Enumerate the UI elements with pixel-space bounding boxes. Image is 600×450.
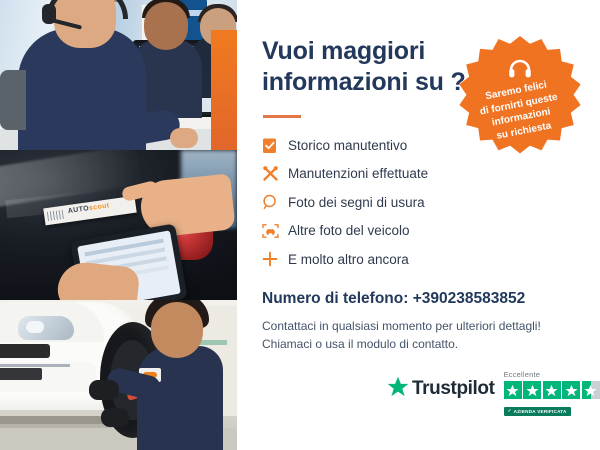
star-box <box>562 381 580 399</box>
list-item: E molto altro ancora <box>262 245 512 274</box>
list-item-label: Altre foto del veicolo <box>288 223 410 238</box>
plus-icon <box>262 251 288 267</box>
star-box-half <box>582 381 600 399</box>
list-item-label: Foto dei segni di usura <box>288 195 425 210</box>
title-line-2: informazioni su ? <box>262 67 487 98</box>
verified-badge: ✓ AZIENDA VERIFICATA <box>504 407 571 416</box>
mechanic <box>137 346 223 450</box>
contact-subtext: Contattaci in qualsiasi momento per ulte… <box>262 317 582 353</box>
contact-subtext-line-1: Contattaci in qualsiasi momento per ulte… <box>262 317 582 335</box>
verified-label: AZIENDA VERIFICATA <box>514 409 567 414</box>
star-rating <box>504 381 600 399</box>
contact-subtext-line-2: Chiamaci o usa il modulo di contatto. <box>262 335 582 353</box>
list-item-label: Storico manutentivo <box>288 138 407 153</box>
list-item-label: E molto altro ancora <box>288 252 409 267</box>
list-item-label: Manutenzioni effettuate <box>288 166 428 181</box>
trustpilot-widget[interactable]: Trustpilot Eccellente <box>387 370 600 417</box>
phone-number[interactable]: Numero di telefono: +390238583852 <box>262 290 525 308</box>
star-box <box>543 381 561 399</box>
mechanic-wheel-photo <box>0 300 237 450</box>
magnifier-icon <box>262 194 288 210</box>
list-item: Manutenzioni effettuate <box>262 160 512 189</box>
rating-label: Eccellente <box>504 370 600 379</box>
trustpilot-logo: Trustpilot <box>387 376 495 402</box>
car-scan-icon <box>262 223 288 239</box>
trustpilot-rating: Eccellente <box>504 370 600 417</box>
list-item: Storico manutentivo <box>262 131 512 160</box>
star-box <box>504 381 522 399</box>
call-center-photo <box>0 0 237 150</box>
trustpilot-wordmark: Trustpilot <box>412 378 495 400</box>
office-chair <box>0 70 26 130</box>
verified-check-icon: ✓ <box>508 408 512 414</box>
feature-list: Storico manutentivo Manutenzioni effettu… <box>262 131 512 274</box>
clipboard-check-icon <box>262 137 288 154</box>
orange-partition <box>211 30 237 150</box>
promo-card: AUTOscout <box>0 0 600 450</box>
trustpilot-star-icon <box>387 376 409 402</box>
list-item: Foto dei segni di usura <box>262 188 512 217</box>
foreground-agent <box>18 28 146 150</box>
page-title: Vuoi maggiori informazioni su ? <box>262 36 487 98</box>
tablet-inspection-photo: AUTOscout <box>0 150 237 300</box>
headset-icon <box>507 57 533 84</box>
star-box <box>523 381 541 399</box>
list-item: Altre foto del veicolo <box>262 217 512 246</box>
headset-band <box>46 0 128 19</box>
info-panel: Vuoi maggiori informazioni su ? Saremo f… <box>237 0 600 450</box>
tools-cross-icon <box>262 165 288 182</box>
title-line-1: Vuoi maggiori <box>262 36 487 67</box>
title-divider <box>263 115 301 118</box>
photo-column: AUTOscout <box>0 0 237 450</box>
